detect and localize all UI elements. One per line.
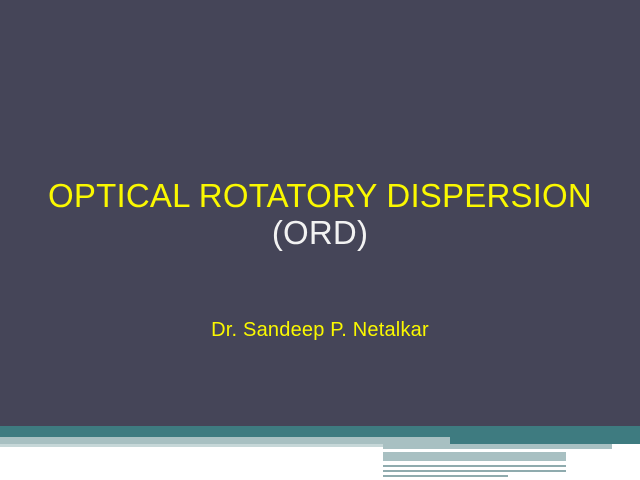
footer-notch-3 bbox=[566, 452, 640, 461]
author-name: Dr. Sandeep P. Netalkar bbox=[211, 319, 429, 341]
page-title: OPTICAL ROTATORY DISPERSION (ORD) bbox=[0, 178, 640, 252]
title-line-primary: OPTICAL ROTATORY DISPERSION bbox=[0, 178, 640, 215]
title-slide: OPTICAL ROTATORY DISPERSION (ORD) Dr. Sa… bbox=[0, 0, 640, 480]
footer-notch-1 bbox=[383, 449, 533, 452]
footer-bar-right-5 bbox=[383, 475, 508, 477]
title-line-abbreviation: (ORD) bbox=[0, 215, 640, 252]
footer-notch-2 bbox=[510, 461, 640, 465]
footer-bar-right-4 bbox=[383, 470, 566, 472]
footer-decoration bbox=[0, 426, 640, 480]
author-block: Dr. Sandeep P. Netalkar bbox=[0, 319, 640, 342]
footer-bar-light-left bbox=[0, 437, 450, 444]
footer-bar-right-3 bbox=[383, 465, 566, 467]
footer-bar-teal-main bbox=[0, 426, 640, 437]
footer-bar-teal-right bbox=[450, 437, 640, 444]
footer-bar-pale-left bbox=[0, 444, 383, 447]
footer-notch-4 bbox=[612, 444, 640, 449]
